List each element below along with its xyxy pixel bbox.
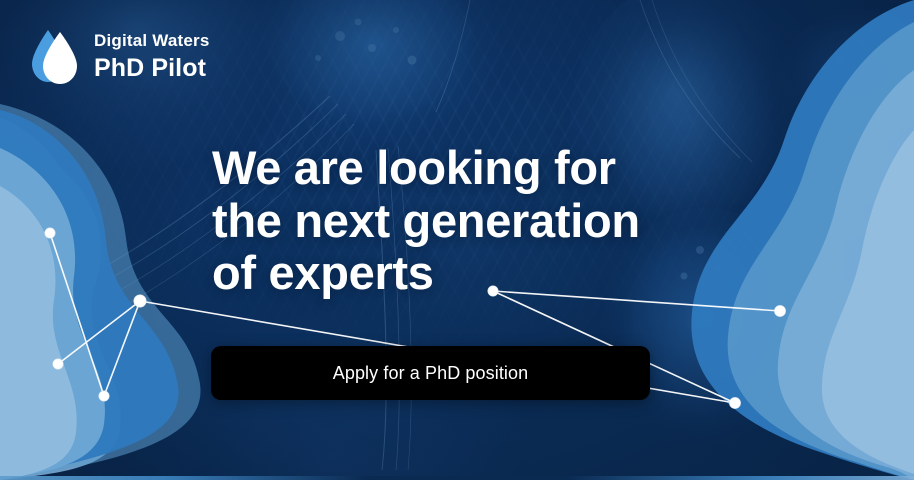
headline-line-2: the next generation [212, 195, 732, 248]
brand-logo[interactable]: Digital Waters PhD Pilot [30, 26, 210, 86]
headline-line-1: We are looking for [212, 142, 732, 195]
apply-for-phd-position-button[interactable]: Apply for a PhD position [211, 346, 650, 400]
network-node [774, 305, 785, 316]
logo-line-2: PhD Pilot [94, 56, 210, 81]
logo-line-1: Digital Waters [94, 32, 210, 49]
water-droplet-pair-icon [30, 26, 80, 86]
hero-banner: Digital Waters PhD Pilot We are looking … [0, 0, 914, 480]
network-node [99, 391, 109, 401]
network-node [53, 359, 63, 369]
network-node [729, 397, 740, 408]
headline-line-3: of experts [212, 247, 732, 300]
page-title: We are looking for the next generation o… [212, 142, 732, 300]
network-node [45, 228, 55, 238]
network-node [134, 295, 146, 307]
network-edge [50, 233, 104, 396]
bottom-accent-strip [0, 476, 914, 480]
